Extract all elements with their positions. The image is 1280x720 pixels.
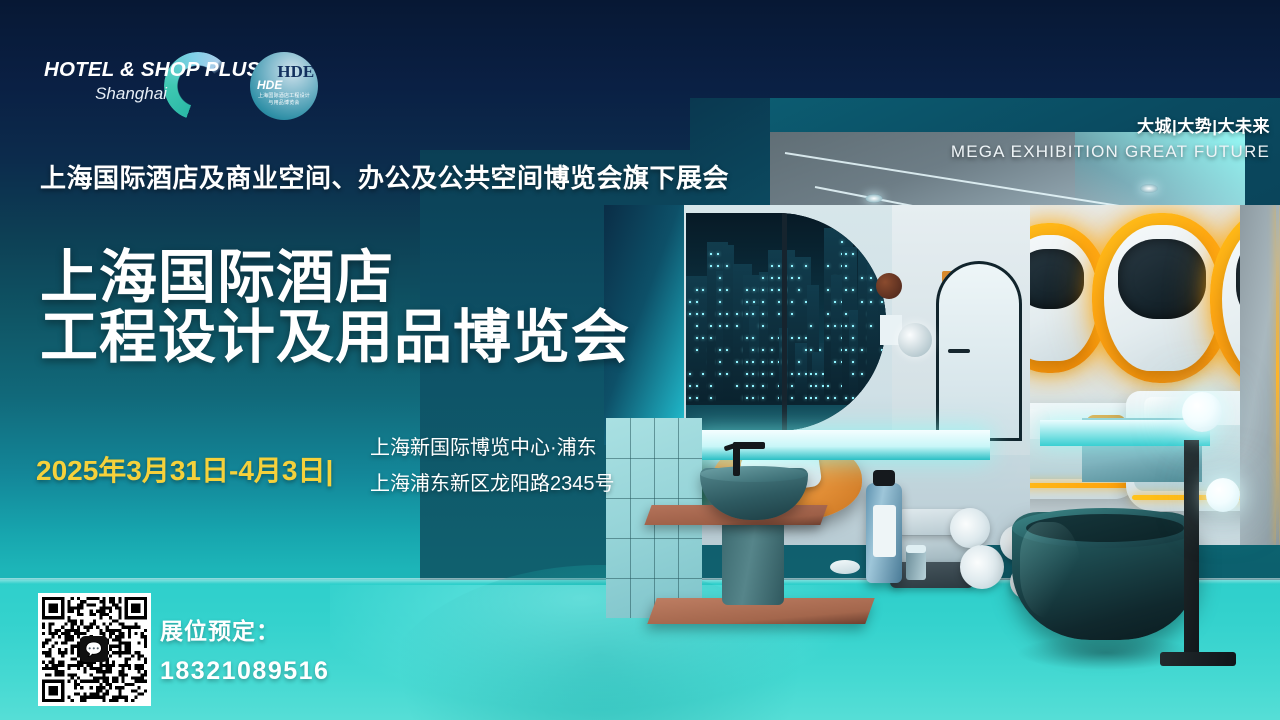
building-light xyxy=(845,313,847,315)
building-light xyxy=(827,385,829,387)
building-light xyxy=(771,337,773,339)
building-light xyxy=(726,313,728,315)
building-light xyxy=(881,385,883,387)
building-light xyxy=(771,361,773,363)
building-light xyxy=(870,325,872,327)
building-light xyxy=(752,385,754,387)
building-light xyxy=(852,373,854,375)
tile-grout-line xyxy=(630,418,631,618)
building-light xyxy=(746,337,748,339)
ceiling-downlight xyxy=(1140,184,1158,193)
porthole-mirror xyxy=(898,323,932,357)
building-light xyxy=(710,385,712,387)
building-light xyxy=(726,325,728,327)
building-light xyxy=(689,313,691,315)
building-light xyxy=(845,277,847,279)
globe-lamp-upper xyxy=(1182,392,1222,432)
bottle-cap xyxy=(873,470,895,486)
building-light xyxy=(746,373,748,375)
building-light xyxy=(710,397,712,399)
bottle-label xyxy=(873,505,896,557)
building-light xyxy=(827,397,829,399)
tap-base-plate xyxy=(1160,652,1236,666)
building-light xyxy=(881,349,883,351)
building-light xyxy=(746,397,748,399)
pod-column-light-strip xyxy=(1276,205,1279,545)
building-light xyxy=(710,325,712,327)
building-light xyxy=(736,325,738,327)
ceiling-downlight xyxy=(865,194,883,203)
event-venue: 上海新国际博览中心·浦东 上海浦东新区龙阳路2345号 xyxy=(370,430,615,502)
building-light xyxy=(861,349,863,351)
building-light xyxy=(827,289,829,291)
building-light xyxy=(771,349,773,351)
building-light xyxy=(762,385,764,387)
building-light xyxy=(834,301,836,303)
building-light xyxy=(762,373,764,375)
building-light xyxy=(805,265,807,267)
building-light xyxy=(870,289,872,291)
sink-pedestal xyxy=(722,520,784,605)
building-light xyxy=(746,289,748,291)
building-light xyxy=(791,385,793,387)
building-light xyxy=(719,325,721,327)
building-light xyxy=(845,289,847,291)
building-light xyxy=(719,361,721,363)
slogan-chinese: 大城|大势|大未来 xyxy=(951,112,1270,137)
pod-divider-column xyxy=(1240,205,1280,545)
building-light xyxy=(798,337,800,339)
building-light xyxy=(719,373,721,375)
building-light xyxy=(710,265,712,267)
building-light xyxy=(791,313,793,315)
title-line-1: 上海国际酒店 xyxy=(40,248,630,308)
door-handle xyxy=(948,349,970,353)
panorama-window xyxy=(686,213,886,431)
building-light xyxy=(771,277,773,279)
contact-phone[interactable]: 18321089516 xyxy=(160,657,329,686)
venue-line-1: 上海新国际博览中心·浦东 xyxy=(370,430,615,466)
building-light xyxy=(861,373,863,375)
building-light xyxy=(815,385,817,387)
slogan-english: MEGA EXHIBITION GREAT FUTURE xyxy=(951,142,1270,162)
building-light xyxy=(771,265,773,267)
wechat-icon: 💬 xyxy=(80,636,108,662)
pod-window xyxy=(1118,239,1206,319)
building-light xyxy=(726,373,728,375)
building-light xyxy=(791,265,793,267)
building-light xyxy=(845,253,847,255)
building-light xyxy=(752,397,754,399)
building-light xyxy=(852,289,854,291)
building-light xyxy=(719,277,721,279)
building-light xyxy=(710,337,712,339)
building-light xyxy=(852,349,854,351)
building-light xyxy=(752,373,754,375)
building-light xyxy=(845,325,847,327)
building-light xyxy=(852,361,854,363)
building-light xyxy=(726,289,728,291)
building-light xyxy=(841,241,843,243)
tile-grout-line xyxy=(606,498,702,499)
building-light xyxy=(719,313,721,315)
building-light xyxy=(717,253,719,255)
window-mullion xyxy=(782,213,787,431)
brand-name: HOTEL & SHOP PLUS xyxy=(44,58,244,82)
tile-grout-line xyxy=(606,578,702,579)
hde-cn-line2: 与用品博览会 xyxy=(250,100,318,107)
building-light xyxy=(762,313,764,315)
building-light xyxy=(834,325,836,327)
tile-grout-line xyxy=(606,458,702,459)
building-light xyxy=(815,397,817,399)
building-light xyxy=(726,349,728,351)
building-light xyxy=(852,253,854,255)
soap-dish xyxy=(830,560,860,574)
building-light xyxy=(762,361,764,363)
brand-wordmark: HOTEL & SHOP PLUS Shanghai xyxy=(44,58,244,104)
event-date: 2025年3月31日-4月3日| xyxy=(36,449,333,489)
building-light xyxy=(861,397,863,399)
building-light xyxy=(719,349,721,351)
building-light xyxy=(868,253,870,255)
building-light xyxy=(689,385,691,387)
building-light xyxy=(778,289,780,291)
building-light xyxy=(762,397,764,399)
building-light xyxy=(736,313,738,315)
building-light xyxy=(798,277,800,279)
floor-standing-tap xyxy=(1184,440,1199,658)
building-light xyxy=(717,265,719,267)
building-light xyxy=(870,385,872,387)
building-light xyxy=(845,397,847,399)
hde-cn-line1: 上海国际酒店工程设计 xyxy=(250,93,318,100)
tile-grout-line xyxy=(606,538,702,539)
building-light xyxy=(726,265,728,267)
rolled-towel xyxy=(960,545,1004,589)
building-light xyxy=(762,277,764,279)
building-light xyxy=(827,313,829,315)
rolled-towel xyxy=(950,508,990,548)
building-light xyxy=(710,253,712,255)
building-light xyxy=(834,361,836,363)
building-light xyxy=(827,265,829,267)
building-light xyxy=(827,337,829,339)
hde-chinese-name: 上海国际酒店工程设计 与用品博览会 xyxy=(250,93,318,107)
building-light xyxy=(752,361,754,363)
building-light xyxy=(815,373,817,375)
hde-badge[interactable]: HDE HDE 上海国际酒店工程设计 与用品博览会 xyxy=(250,52,318,120)
building-light xyxy=(798,361,800,363)
jar-lid xyxy=(906,545,926,553)
building-light xyxy=(762,325,764,327)
globe-lamp-lower xyxy=(1206,478,1240,512)
building-light xyxy=(870,301,872,303)
exhibition-banner: HOTEL & SHOP PLUS Shanghai HDE HDE 上海国际酒… xyxy=(0,0,1280,720)
building-light xyxy=(852,397,854,399)
brand-logo[interactable]: HOTEL & SHOP PLUS Shanghai HDE HDE 上海国际酒… xyxy=(44,50,344,120)
building-light xyxy=(702,373,704,375)
building-light xyxy=(753,289,755,291)
building-light xyxy=(771,289,773,291)
building-light xyxy=(746,385,748,387)
building-light xyxy=(810,325,812,327)
building-light xyxy=(798,289,800,291)
building-light xyxy=(778,301,780,303)
building-light xyxy=(778,277,780,279)
building-light xyxy=(778,265,780,267)
building-light xyxy=(736,361,738,363)
bed-led-strip xyxy=(1030,483,1134,488)
building-light xyxy=(746,313,748,315)
building-light xyxy=(861,301,863,303)
building-light xyxy=(870,397,872,399)
building-light xyxy=(702,313,704,315)
slogan: 大城|大势|大未来 MEGA EXHIBITION GREAT FUTURE xyxy=(951,112,1270,162)
building-light xyxy=(752,349,754,351)
building-light xyxy=(762,301,764,303)
building-light xyxy=(852,337,854,339)
building-light xyxy=(752,337,754,339)
building-light xyxy=(702,289,704,291)
building-light xyxy=(845,349,847,351)
building-light xyxy=(736,385,738,387)
building-light xyxy=(746,301,748,303)
building-light xyxy=(791,337,793,339)
building-light xyxy=(798,373,800,375)
building-light xyxy=(689,373,691,375)
building-light xyxy=(791,277,793,279)
building-light xyxy=(834,397,836,399)
building-light xyxy=(689,301,691,303)
basin-rim xyxy=(700,466,808,482)
building-light xyxy=(791,301,793,303)
building-light xyxy=(852,325,854,327)
building-light xyxy=(762,349,764,351)
wall-clock-icon xyxy=(876,273,902,299)
building-light xyxy=(753,301,755,303)
venue-line-2: 上海浦东新区龙阳路2345号 xyxy=(370,466,615,502)
building-light xyxy=(881,301,883,303)
building-light xyxy=(702,337,704,339)
booking-label: 展位预定： xyxy=(160,612,280,646)
hde-monogram: HDE xyxy=(277,62,314,82)
building-light xyxy=(746,361,748,363)
building-light xyxy=(689,397,691,399)
brand-city: Shanghai xyxy=(44,84,244,104)
parent-expo-label: 上海国际酒店及商业空间、办公及公共空间博览会旗下展会 xyxy=(40,158,729,195)
building-light xyxy=(778,313,780,315)
building-light xyxy=(719,301,721,303)
hde-wordmark: HDE xyxy=(257,78,282,92)
building-light xyxy=(870,277,872,279)
building-light xyxy=(861,277,863,279)
amenity-jar xyxy=(906,550,926,580)
building-light xyxy=(791,397,793,399)
building-light xyxy=(827,325,829,327)
building-light xyxy=(845,265,847,267)
building-light xyxy=(719,289,721,291)
page-title: 上海国际酒店 工程设计及用品博览会 xyxy=(40,248,630,368)
building-light xyxy=(791,373,793,375)
building-light xyxy=(752,313,754,315)
building-light xyxy=(762,289,764,291)
building-light xyxy=(771,373,773,375)
building-light xyxy=(875,253,877,255)
title-line-2: 工程设计及用品博览会 xyxy=(40,308,630,368)
pod-window xyxy=(1030,249,1084,309)
